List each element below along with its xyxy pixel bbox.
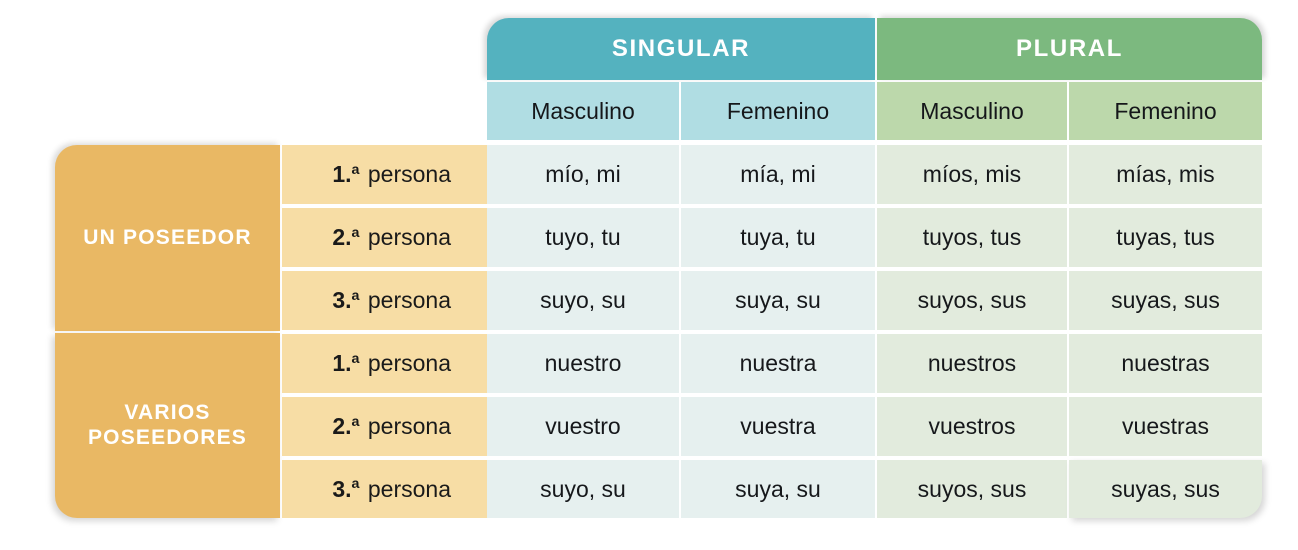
person-word: persona xyxy=(368,161,451,187)
data-cell: suyo, su xyxy=(487,271,679,330)
person-word: persona xyxy=(368,287,451,313)
data-cell: mío, mi xyxy=(487,145,679,204)
data-cell: vuestro xyxy=(487,397,679,456)
data-cell: mías, mis xyxy=(1069,145,1262,204)
data-cell: suyo, su xyxy=(487,460,679,518)
person-ordinal-suffix: a xyxy=(352,225,360,241)
section-label-line: POSEEDORES xyxy=(88,426,247,450)
person-ordinal: 3. xyxy=(332,287,351,313)
data-cell: nuestro xyxy=(487,334,679,393)
person-word: persona xyxy=(368,476,451,502)
subheader-singular-femenino: Femenino xyxy=(681,82,875,140)
data-cell: míos, mis xyxy=(877,145,1067,204)
person-label-cell: 2.a persona xyxy=(282,208,487,267)
person-label-cell: 3.a persona xyxy=(282,460,487,518)
person-ordinal-suffix: a xyxy=(352,414,360,430)
possessives-table: SINGULAR PLURAL Masculino Femenino Mascu… xyxy=(0,0,1298,550)
section-label-varios-poseedores: VARIOS POSEEDORES xyxy=(55,333,280,518)
person-ordinal: 2. xyxy=(332,224,351,250)
data-cell: tuya, tu xyxy=(681,208,875,267)
person-label-cell: 2.a persona xyxy=(282,397,487,456)
section-label-line: UN POSEEDOR xyxy=(83,226,251,250)
person-ordinal-suffix: a xyxy=(352,288,360,304)
person-ordinal: 3. xyxy=(332,476,351,502)
data-cell: tuyas, tus xyxy=(1069,208,1262,267)
person-ordinal: 1. xyxy=(332,161,351,187)
section-label-line: VARIOS xyxy=(88,401,247,425)
column-group-header-singular: SINGULAR xyxy=(487,18,875,80)
data-cell: nuestra xyxy=(681,334,875,393)
data-cell: vuestros xyxy=(877,397,1067,456)
person-ordinal-suffix: a xyxy=(352,162,360,178)
data-cell: suyos, sus xyxy=(877,271,1067,330)
data-cell: vuestra xyxy=(681,397,875,456)
data-cell: tuyos, tus xyxy=(877,208,1067,267)
data-cell: tuyo, tu xyxy=(487,208,679,267)
data-cell: suyos, sus xyxy=(877,460,1067,518)
person-ordinal: 1. xyxy=(332,350,351,376)
data-cell: vuestras xyxy=(1069,397,1262,456)
person-word: persona xyxy=(368,413,451,439)
person-label-cell: 1.a persona xyxy=(282,334,487,393)
subheader-singular-masculino: Masculino xyxy=(487,82,679,140)
column-group-header-plural: PLURAL xyxy=(877,18,1262,80)
data-cell: suya, su xyxy=(681,460,875,518)
person-ordinal-suffix: a xyxy=(352,476,360,492)
person-word: persona xyxy=(368,350,451,376)
data-cell: suyas, sus xyxy=(1069,271,1262,330)
person-ordinal: 2. xyxy=(332,413,351,439)
person-label-cell: 1.a persona xyxy=(282,145,487,204)
data-cell: suyas, sus xyxy=(1069,460,1262,518)
subheader-plural-masculino: Masculino xyxy=(877,82,1067,140)
data-cell: mía, mi xyxy=(681,145,875,204)
person-label-cell: 3.a persona xyxy=(282,271,487,330)
person-word: persona xyxy=(368,224,451,250)
data-cell: suya, su xyxy=(681,271,875,330)
person-ordinal-suffix: a xyxy=(352,351,360,367)
data-cell: nuestros xyxy=(877,334,1067,393)
data-cell: nuestras xyxy=(1069,334,1262,393)
subheader-plural-femenino: Femenino xyxy=(1069,82,1262,140)
section-label-un-poseedor: UN POSEEDOR xyxy=(55,145,280,331)
